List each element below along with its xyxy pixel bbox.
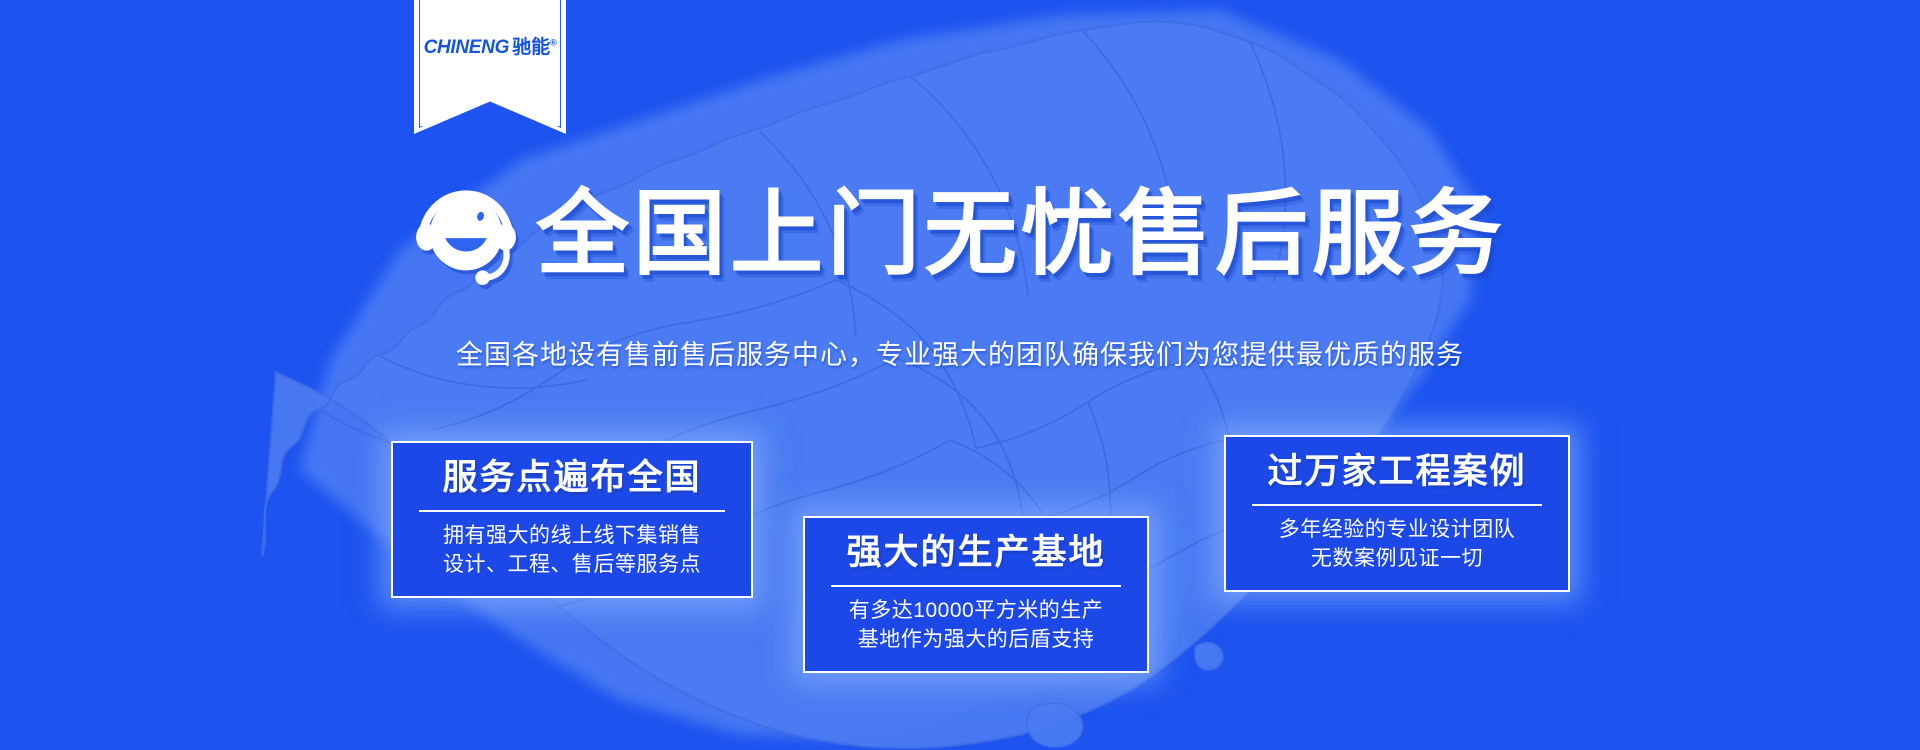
logo-latin-text: CHINENG (424, 37, 510, 58)
feature-card-divider (419, 510, 725, 512)
feature-card-desc-line2: 基地作为强大的后盾支持 (823, 626, 1129, 655)
feature-card-desc-line1: 多年经验的专业设计团队 (1244, 516, 1550, 545)
feature-card-divider (831, 585, 1121, 587)
feature-card-production-base[interactable]: 强大的生产基地 有多达10000平方米的生产 基地作为强大的后盾支持 (803, 516, 1149, 673)
feature-card-desc-line2: 无数案例见证一切 (1244, 545, 1550, 574)
feature-card-title: 服务点遍布全国 (411, 457, 733, 499)
company-logo-ribbon[interactable]: CHINENG驰能® (414, 0, 566, 134)
feature-card-engineering-cases[interactable]: 过万家工程案例 多年经验的专业设计团队 无数案例见证一切 (1224, 435, 1570, 592)
promo-banner: CHINENG驰能® 全国上门无忧售后服务 全国各地设有售前售后服务中心，专业强… (0, 0, 1920, 750)
page-subtitle: 全国各地设有售前售后服务中心，专业强大的团队确保我们为您提供最优质的服务 (0, 333, 1920, 372)
feature-card-desc-line1: 有多达10000平方米的生产 (823, 597, 1129, 626)
customer-service-headset-icon (414, 182, 518, 286)
registered-trademark-icon: ® (550, 38, 556, 48)
feature-card-title: 强大的生产基地 (823, 532, 1129, 574)
logo-chinese-text: 驰能 (512, 37, 550, 58)
feature-card-desc-line1: 拥有强大的线上线下集销售 (411, 522, 733, 551)
feature-card-title: 过万家工程案例 (1244, 451, 1550, 493)
logo-wordmark: CHINENG驰能® (414, 32, 566, 59)
feature-card-desc-line2: 设计、工程、售后等服务点 (411, 551, 733, 580)
feature-card-divider (1252, 504, 1542, 506)
ribbon-inner-outline (419, 0, 561, 128)
feature-card-service-points[interactable]: 服务点遍布全国 拥有强大的线上线下集销售 设计、工程、售后等服务点 (391, 441, 753, 598)
page-title: 全国上门无忧售后服务 (536, 188, 1506, 281)
hero-headline-row: 全国上门无忧售后服务 (0, 182, 1920, 286)
